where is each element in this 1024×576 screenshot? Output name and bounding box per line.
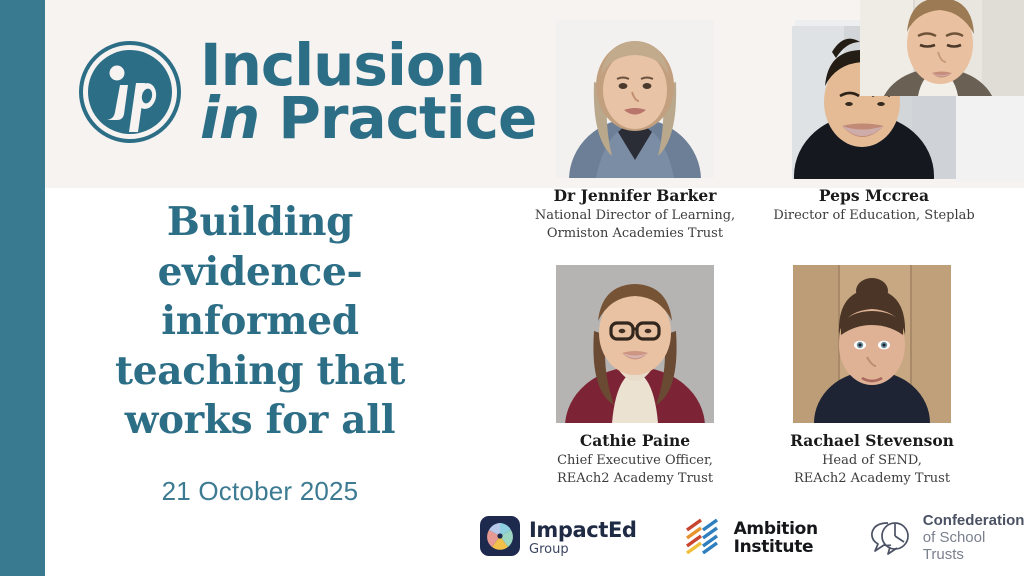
video-call-empty-tile: [956, 96, 1024, 182]
speaker-card-jennifer-barker: Dr Jennifer Barker National Director of …: [506, 20, 764, 242]
ambition-stripes-icon: [685, 518, 725, 559]
ip-monogram-icon: [76, 38, 184, 146]
title-line-3: informed: [161, 298, 358, 344]
speaker-role-line-1: Director of Education, Steplab: [773, 208, 974, 223]
logo-confederation-of-school-trusts: Confederation of School Trusts: [866, 513, 1024, 563]
speaker-photo: [793, 265, 951, 423]
speaker-role-line-2: Ormiston Academies Trust: [547, 226, 723, 241]
speaker-name: Dr Jennifer Barker: [506, 186, 764, 205]
impacted-wordmark: ImpactEd Group: [529, 519, 637, 557]
title-line-2: evidence-: [158, 249, 363, 295]
logo-title: ImpactEd: [529, 519, 637, 542]
logo-subtitle: Institute: [734, 538, 818, 556]
footer-logo-row: ImpactEd Group: [480, 508, 1024, 568]
title-line-5: works for all: [125, 397, 396, 443]
brand-wordmark: Inclusion in Practice: [200, 39, 536, 146]
speaker-role: Director of Education, Steplab: [745, 207, 1003, 225]
title-line-1: Building: [167, 199, 353, 245]
presentation-slide: Inclusion in Practice Building evidence-…: [0, 0, 1024, 576]
speaker-photo: [556, 20, 714, 178]
page-title: Building evidence- informed teaching tha…: [60, 198, 460, 446]
speaker-role-line-1: Chief Executive Officer,: [557, 453, 713, 468]
impacted-petals-icon: [480, 516, 520, 561]
speaker-card-rachael-stevenson: Rachael Stevenson Head of SEND, REAch2 A…: [743, 265, 1001, 487]
logo-title: Ambition: [734, 520, 818, 538]
left-accent-bar: [0, 0, 45, 576]
speaker-name: Cathie Paine: [506, 431, 764, 450]
title-block: Building evidence- informed teaching tha…: [60, 198, 460, 507]
logo-impacted-group: ImpactEd Group: [480, 516, 637, 561]
ambition-wordmark: Ambition Institute: [734, 520, 818, 557]
cst-speech-bubbles-icon: [866, 517, 914, 560]
logo-title: Confederation: [923, 513, 1024, 529]
cst-wordmark: Confederation of School Trusts: [923, 513, 1024, 563]
title-line-4: teaching that: [115, 348, 405, 394]
speaker-role-line-2: REAch2 Academy Trust: [557, 471, 713, 486]
speaker-photo: [556, 265, 714, 423]
speaker-card-cathie-paine: Cathie Paine Chief Executive Officer, RE…: [506, 265, 764, 487]
event-date: 21 October 2025: [60, 476, 460, 507]
speaker-role-line-1: National Director of Learning,: [535, 208, 735, 223]
logo-ambition-institute: Ambition Institute: [685, 518, 818, 559]
brand-line-2-rest: Practice: [278, 84, 536, 152]
logo-subtitle: of School Trusts: [923, 530, 1024, 562]
speaker-name: Rachael Stevenson: [743, 431, 1001, 450]
speaker-role-line-2: REAch2 Academy Trust: [794, 471, 950, 486]
brand-line-2: in Practice: [200, 92, 536, 145]
logo-subtitle: Group: [529, 543, 637, 557]
speaker-role: National Director of Learning, Ormiston …: [506, 207, 764, 242]
brand-line-2-italic: in: [200, 84, 259, 152]
speaker-role: Head of SEND, REAch2 Academy Trust: [743, 452, 1001, 487]
speaker-name: Peps Mccrea: [745, 186, 1003, 205]
speaker-role-line-1: Head of SEND,: [822, 453, 922, 468]
speaker-role: Chief Executive Officer, REAch2 Academy …: [506, 452, 764, 487]
webcam-feed-speaker-a[interactable]: [860, 0, 1024, 96]
brand-lockup: Inclusion in Practice: [76, 38, 536, 146]
